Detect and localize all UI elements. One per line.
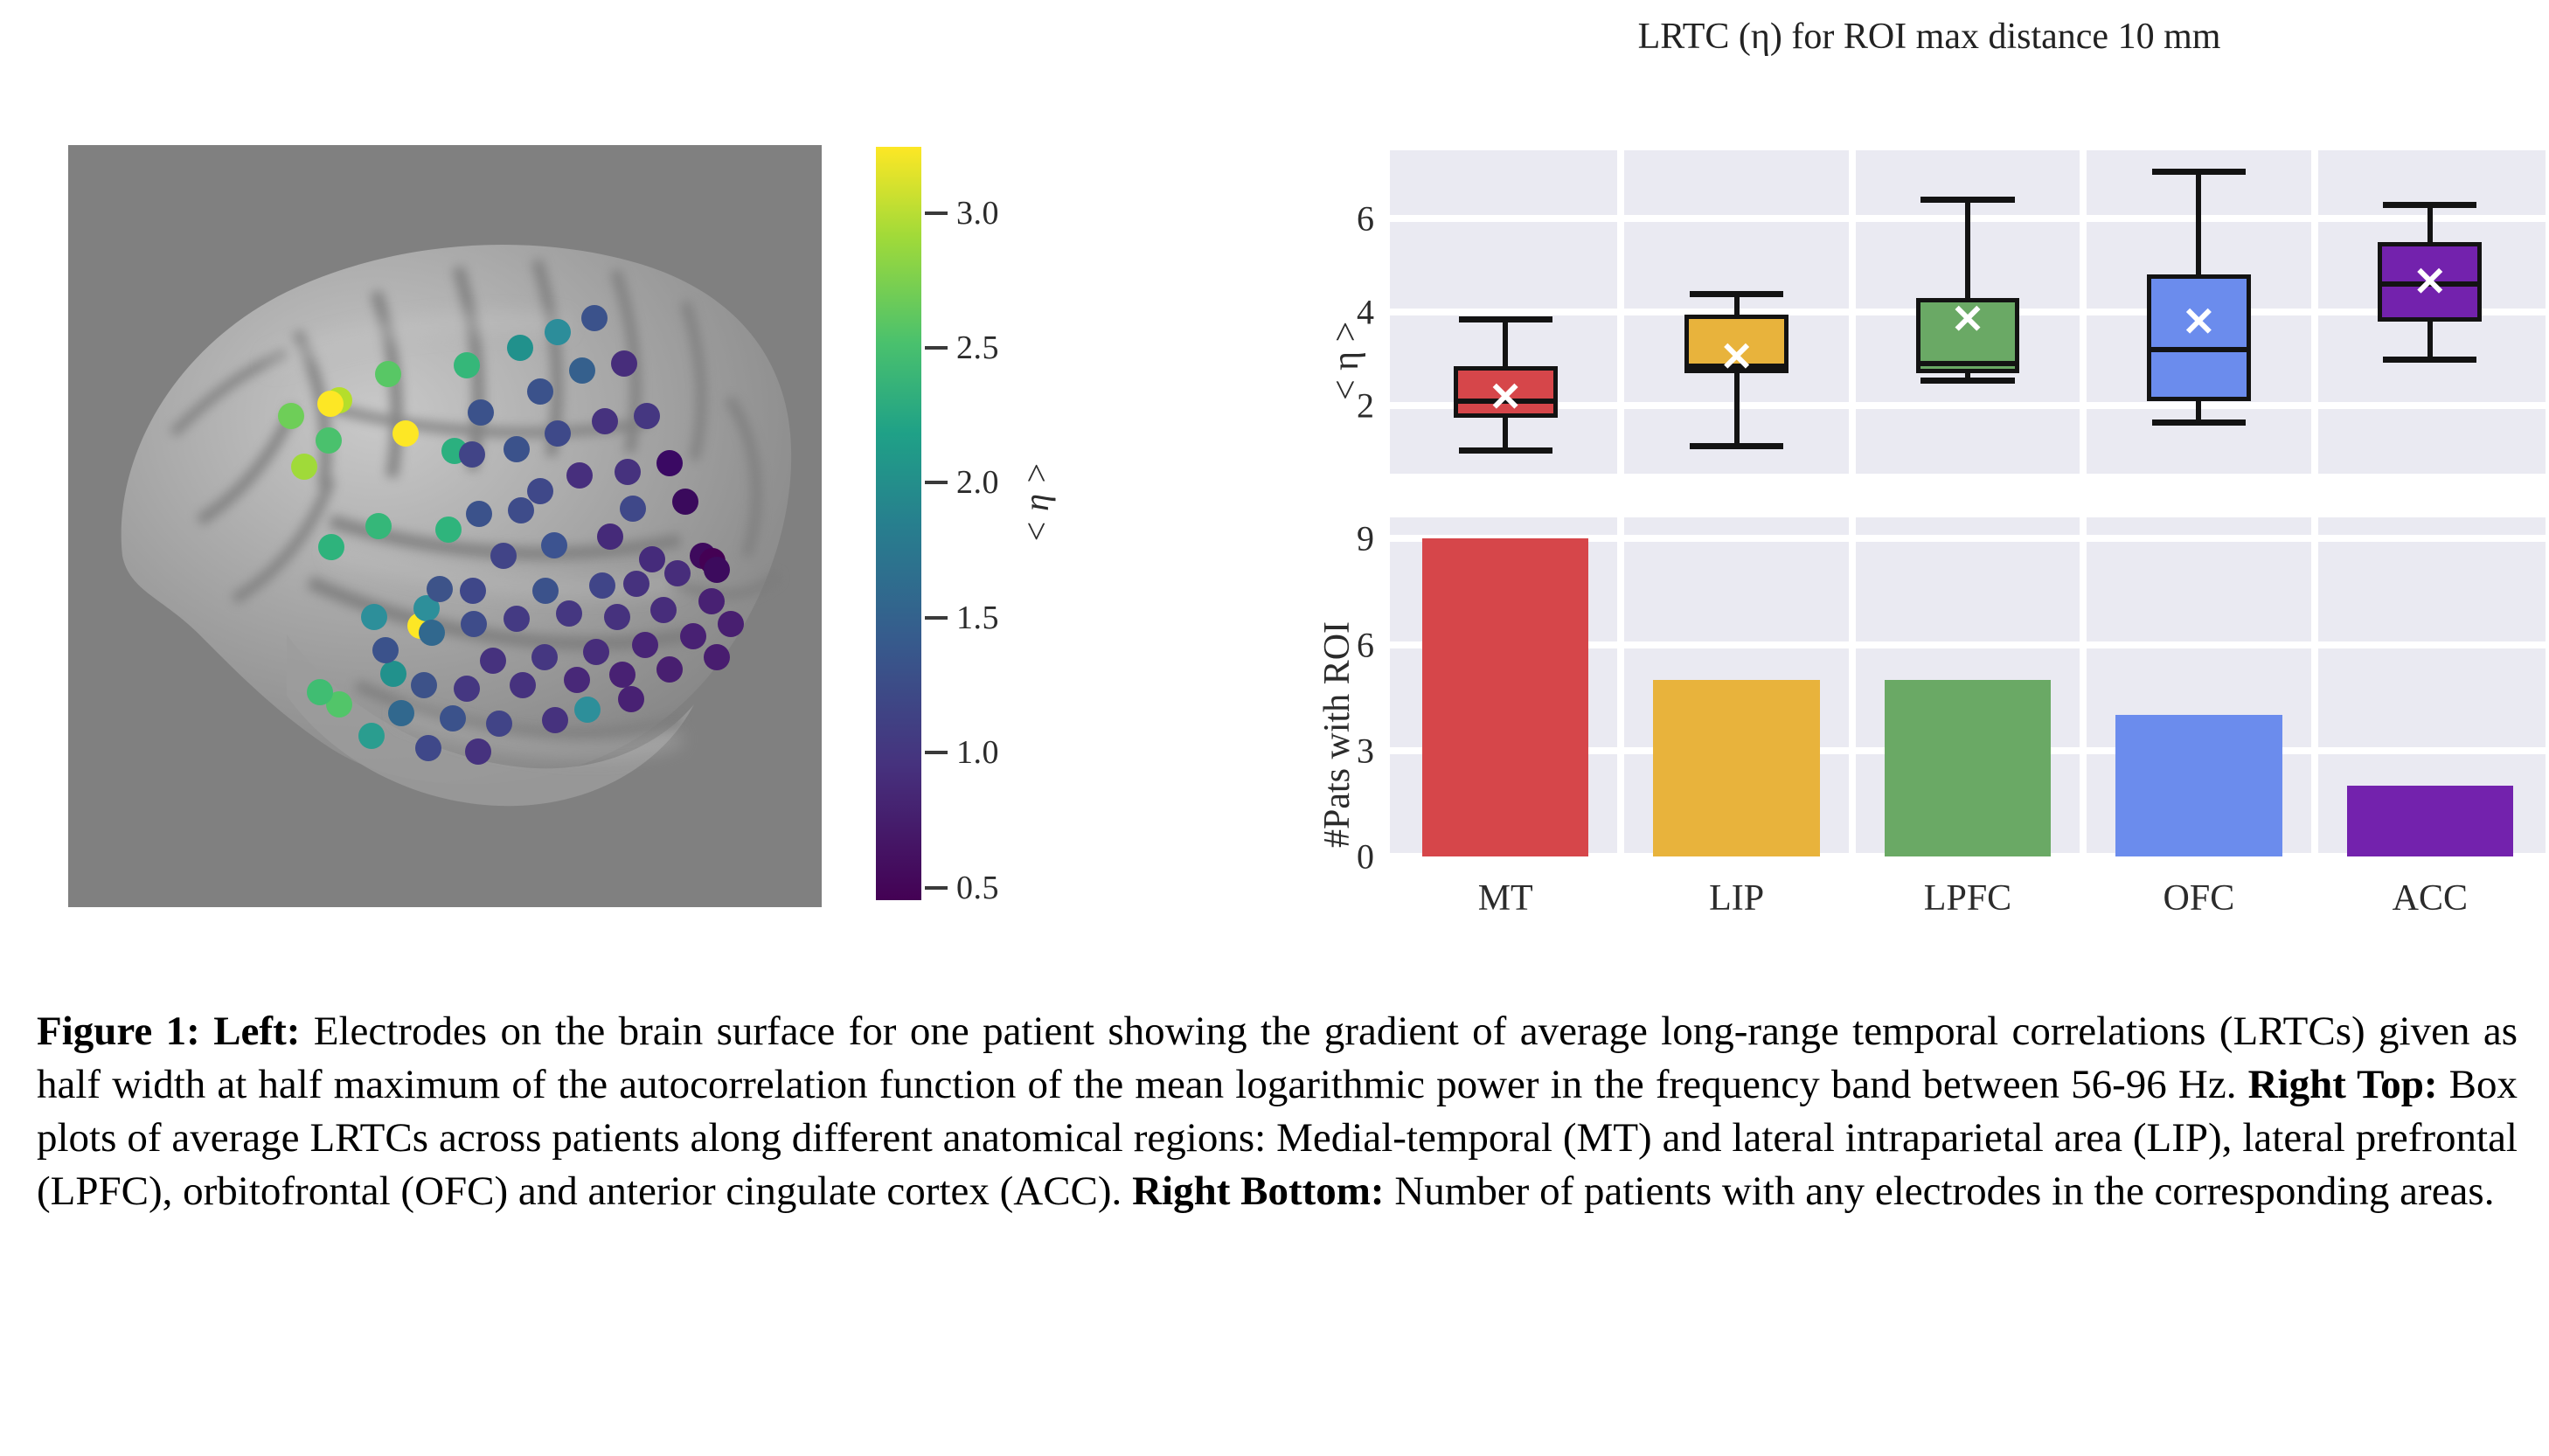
boxplot-whisker-upper <box>2427 205 2433 242</box>
boxplot-cap-lower <box>2383 357 2476 363</box>
boxplot-cap-upper <box>2383 202 2476 208</box>
colorbar-tick-2.0 <box>925 481 948 484</box>
boxplot-cap-upper <box>2152 169 2246 175</box>
boxplot-cap-lower <box>1459 447 1552 454</box>
caption-text-3: Number of patients with any electrodes i… <box>1385 1168 2495 1214</box>
colorbar-tick-0.5 <box>925 886 948 890</box>
figure-page: 3.0 2.5 2.0 1.5 1.0 0.5 < η > LRTC (η) f… <box>0 0 2549 1456</box>
boxplot-cap-upper <box>1920 197 2014 203</box>
bar-ofc[interactable] <box>2115 715 2282 856</box>
colorbar-label-0.5: 0.5 <box>956 869 999 907</box>
boxplot-mean-marker: ✕ <box>1484 376 1526 418</box>
colorbar-tick-3.0 <box>925 211 948 215</box>
bar-mt[interactable] <box>1422 538 1588 856</box>
colorbar-label-2.0: 2.0 <box>956 463 999 502</box>
boxplot-cap-lower <box>1690 443 1783 449</box>
boxplot-whisker-lower <box>1503 418 1508 451</box>
xtick-label-acc: ACC <box>2393 877 2468 919</box>
boxplot-whisker-lower <box>1734 373 1740 446</box>
barchart-gridline-v <box>2311 517 2318 856</box>
brain-surface-svg <box>68 145 822 907</box>
xtick-label-lip: LIP <box>1709 877 1764 919</box>
caption-figure-label: Figure 1: <box>37 1009 200 1054</box>
xtick-label-ofc: OFC <box>2164 877 2235 919</box>
boxplot-whisker-upper <box>1965 199 1970 298</box>
boxplot-whisker-lower <box>2427 322 2433 359</box>
barchart-ylabel: #Pats with ROI <box>1316 524 1358 848</box>
barchart-gridline-v <box>1617 517 1624 856</box>
colorbar-label-3.0: 3.0 <box>956 194 999 232</box>
caption-text-1: Electrodes on the brain surface for one … <box>37 1009 2518 1107</box>
colorbar-tick-1.5 <box>925 616 948 620</box>
colorbar: 3.0 2.5 2.0 1.5 1.0 0.5 < η > <box>876 147 1086 916</box>
boxplot-whisker-upper <box>2196 171 2201 274</box>
caption-lead-right-top: Right Top: <box>2248 1062 2438 1107</box>
xtick-label-mt: MT <box>1478 877 1533 919</box>
colorbar-tick-2.5 <box>925 346 948 350</box>
boxplot-ylabel: < η > <box>1325 225 1367 400</box>
colorbar-label-1.0: 1.0 <box>956 733 999 772</box>
bar-acc[interactable] <box>2347 786 2513 856</box>
boxplot-gridline-v <box>2311 150 2318 474</box>
caption-lead-right-bottom: Right Bottom: <box>1132 1168 1385 1214</box>
boxplot-cap-lower <box>1920 378 2014 384</box>
boxplot-cap-lower <box>2152 419 2246 426</box>
boxplot-median-line <box>1916 361 2020 366</box>
colorbar-axis-title: < η > <box>1016 461 1057 544</box>
boxplot-cap-upper <box>1690 291 1783 297</box>
boxplot-mean-marker: ✕ <box>2409 260 2451 302</box>
boxplot-gridline-v <box>1617 150 1624 474</box>
brain-panel <box>68 145 822 907</box>
boxplot-mean-marker: ✕ <box>2177 301 2219 343</box>
barchart-gridline-v <box>1849 517 1856 856</box>
colorbar-label-2.5: 2.5 <box>956 329 999 367</box>
caption-lead-left: Left: <box>213 1009 300 1054</box>
boxplot-median-line <box>2147 347 2251 352</box>
barchart-gridline-v <box>2080 517 2087 856</box>
chart-title: LRTC (η) for ROI max distance 10 mm <box>1309 16 2549 58</box>
boxplot-mean-marker: ✕ <box>1947 298 1989 340</box>
boxplot-cap-upper <box>1459 316 1552 322</box>
bar-lpfc[interactable] <box>1885 680 2051 856</box>
boxplot-gridline-v <box>2080 150 2087 474</box>
boxplot-mean-marker: ✕ <box>1716 336 1758 378</box>
boxplot-gridline-v <box>1849 150 1856 474</box>
figure-caption: Figure 1: Left: Electrodes on the brain … <box>37 1005 2518 1218</box>
xtick-label-lpfc: LPFC <box>1924 877 2011 919</box>
bar-lip[interactable] <box>1653 680 1819 856</box>
boxplot-whisker-upper <box>1503 319 1508 366</box>
boxplot-gridline-h <box>1390 402 2546 409</box>
colorbar-gradient <box>876 147 921 900</box>
right-panel: LRTC (η) for ROI max distance 10 mm 246✕… <box>1309 0 2549 944</box>
colorbar-label-1.5: 1.5 <box>956 599 999 637</box>
colorbar-tick-1.0 <box>925 751 948 754</box>
